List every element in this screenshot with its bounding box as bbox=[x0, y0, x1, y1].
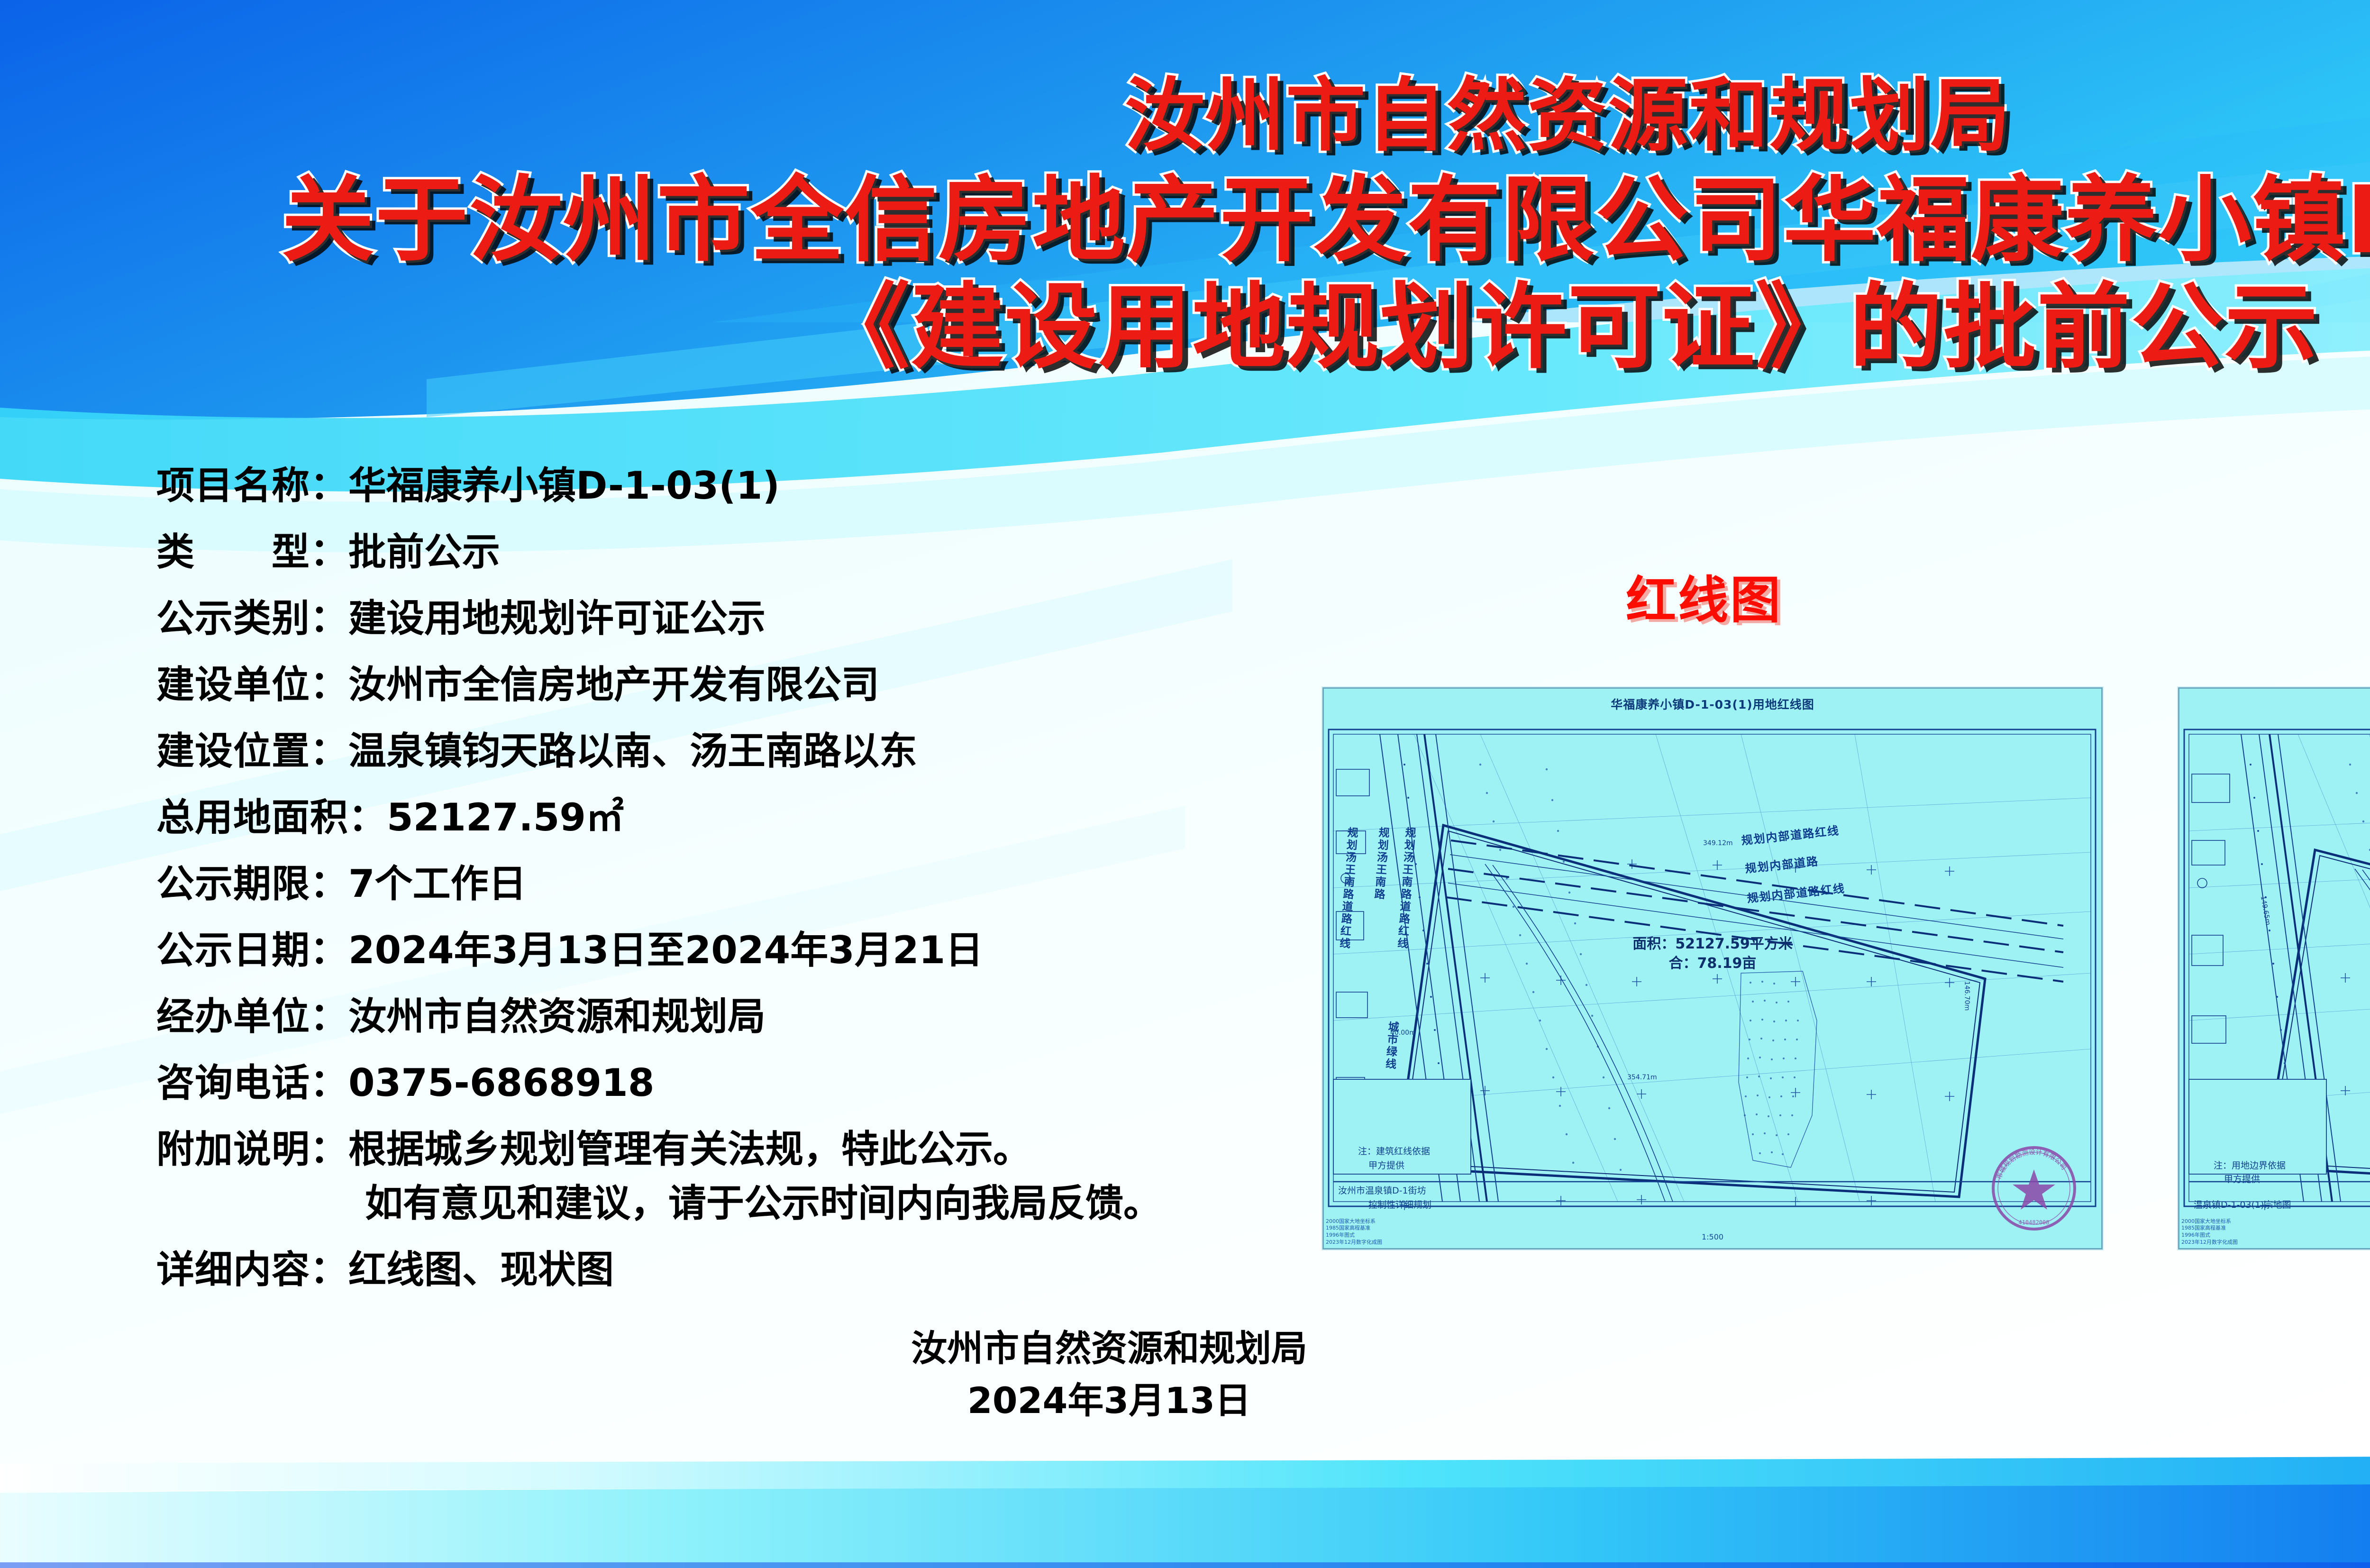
info-value: 如有意见和建议，请于公示时间内向我局反馈。 bbox=[365, 1185, 1161, 1222]
info-row-publicity-dates: 公示日期： 2024年3月13日至2024年3月21日 bbox=[156, 931, 1413, 969]
info-label: 公示日期： bbox=[156, 931, 348, 969]
info-value: 0375-6868918 bbox=[348, 1064, 655, 1102]
info-label: 咨询电话： bbox=[156, 1064, 348, 1102]
poster-title-block: 汝州市自然资源和规划局 关于汝州市全信房地产开发有限公司华福康养小镇D-1-03… bbox=[0, 71, 2370, 380]
info-label: 公示期限： bbox=[156, 865, 348, 903]
map-note-line2: 甲方提供 bbox=[2194, 1173, 2291, 1186]
info-value-unit: ㎡ bbox=[586, 799, 624, 837]
map-card-status[interactable]: 华福康养小镇D-1-03(1)用地现状图 面积：52127.59平方米 合：78… bbox=[2178, 687, 2370, 1249]
info-row-location: 建设位置： 温泉镇钧天路以南、汤王南路以东 bbox=[156, 732, 1413, 770]
info-label: 经办单位： bbox=[156, 998, 348, 1036]
info-row-type: 类 型： 批前公示 bbox=[156, 533, 1413, 571]
info-row-construction-unit: 建设单位： 汝州市全信房地产开发有限公司 bbox=[156, 666, 1413, 704]
info-row-publicity-period: 公示期限： 7个工作日 bbox=[156, 865, 1413, 903]
signature-date: 2024年3月13日 bbox=[730, 1375, 1488, 1427]
seal-svg: 市城规划勘测设计有限公司 410482008 bbox=[1987, 1141, 2081, 1236]
map-area-mu: 合：78.19亩 bbox=[1632, 954, 1793, 974]
info-label: 详细内容： bbox=[156, 1251, 348, 1289]
title-line-document: 《建设用地规划许可证》的批前公示 bbox=[0, 276, 2370, 380]
map-title-status: 华福康养小镇D-1-03(1)用地现状图 bbox=[2179, 695, 2370, 712]
official-seal-redline: 市城规划勘测设计有限公司 410482008 bbox=[1987, 1141, 2081, 1236]
map-note-line1: 注：用地边界依据 bbox=[2194, 1159, 2291, 1173]
map-dimension-right-redline: 146.70m bbox=[1963, 981, 1970, 1011]
map-plan-line1: 温泉镇D-1-03(1)宗地图 bbox=[2194, 1198, 2291, 1212]
map-scale-status: 1:500 bbox=[2179, 1232, 2370, 1241]
title-line-organization: 汝州市自然资源和规划局 bbox=[0, 71, 2370, 160]
info-row-publicity-category: 公示类别： 建设用地规划许可证公示 bbox=[156, 600, 1413, 638]
info-label: 附加说明： bbox=[156, 1130, 348, 1168]
map-card-redline[interactable]: 华福康养小镇D-1-03(1)用地红线图 面积：52127.59平方米 合：78… bbox=[1322, 687, 2103, 1249]
map-dimension-top-redline: 349.12m bbox=[1703, 839, 1733, 847]
info-value: 2024年3月13日至2024年3月21日 bbox=[348, 931, 983, 969]
map-heading-redline: 红线图 bbox=[1626, 559, 1782, 632]
info-row-phone: 咨询电话： 0375-6868918 bbox=[156, 1064, 1413, 1102]
info-label: 项目名称： bbox=[156, 467, 348, 505]
svg-text:410482008: 410482008 bbox=[2018, 1219, 2049, 1226]
map-title-redline: 华福康养小镇D-1-03(1)用地红线图 bbox=[1324, 695, 2101, 712]
info-value: 建设用地规划许可证公示 bbox=[348, 600, 766, 638]
notice-info-list: 项目名称： 华福康养小镇D-1-03(1) 类 型： 批前公示 公示类别： 建设… bbox=[156, 467, 1413, 1317]
map-area-annotation-redline: 面积：52127.59平方米 合：78.19亩 bbox=[1632, 935, 1793, 973]
info-row-remarks: 附加说明： 根据城乡规划管理有关法规，特此公示。 bbox=[156, 1130, 1413, 1168]
info-value: 汝州市自然资源和规划局 bbox=[348, 998, 766, 1036]
info-value: 汝州市全信房地产开发有限公司 bbox=[348, 666, 879, 704]
info-value: 批前公示 bbox=[348, 533, 500, 571]
info-label: 建设位置： bbox=[156, 732, 348, 770]
map-note-status: 注：用地边界依据 甲方提供 温泉镇D-1-03(1)宗地图 bbox=[2194, 1159, 2291, 1212]
info-row-handling-unit: 经办单位： 汝州市自然资源和规划局 bbox=[156, 998, 1413, 1036]
map-scale-redline: 1:500 bbox=[1324, 1232, 2101, 1241]
info-value: 温泉镇钧天路以南、汤王南路以东 bbox=[348, 732, 917, 770]
info-row-total-area: 总用地面积： 52127.59 ㎡ bbox=[156, 799, 1413, 837]
title-line-subject: 关于汝州市全信房地产开发有限公司华福康养小镇D-1-03(1) bbox=[0, 169, 2370, 273]
info-label: 公示类别： bbox=[156, 600, 348, 638]
info-label: 类 型： bbox=[156, 533, 348, 571]
info-row-details: 详细内容： 红线图、现状图 bbox=[156, 1251, 1413, 1289]
info-value: 红线图、现状图 bbox=[348, 1251, 614, 1289]
info-label: 建设单位： bbox=[156, 666, 348, 704]
signature-organization: 汝州市自然资源和规划局 bbox=[730, 1322, 1488, 1375]
info-value: 根据城乡规划管理有关法规，特此公示。 bbox=[348, 1130, 1031, 1168]
public-notice-poster: 汝州市自然资源和规划局 关于汝州市全信房地产开发有限公司华福康养小镇D-1-03… bbox=[0, 0, 2370, 1568]
map-dimension-bottom-redline: 354.71m bbox=[1627, 1074, 1657, 1081]
info-label: 总用地面积： bbox=[156, 799, 387, 837]
info-value: 7个工作日 bbox=[348, 865, 527, 903]
info-row-remarks-continued: 如有意见和建议，请于公示时间内向我局反馈。 bbox=[365, 1185, 1413, 1222]
info-value: 52127.59 bbox=[387, 799, 586, 837]
info-row-project-name: 项目名称： 华福康养小镇D-1-03(1) bbox=[156, 467, 1413, 505]
info-value: 华福康养小镇D-1-03(1) bbox=[348, 467, 780, 505]
signature-block: 汝州市自然资源和规划局 2024年3月13日 bbox=[730, 1322, 1488, 1427]
map-area-sqm: 面积：52127.59平方米 bbox=[1632, 935, 1793, 954]
